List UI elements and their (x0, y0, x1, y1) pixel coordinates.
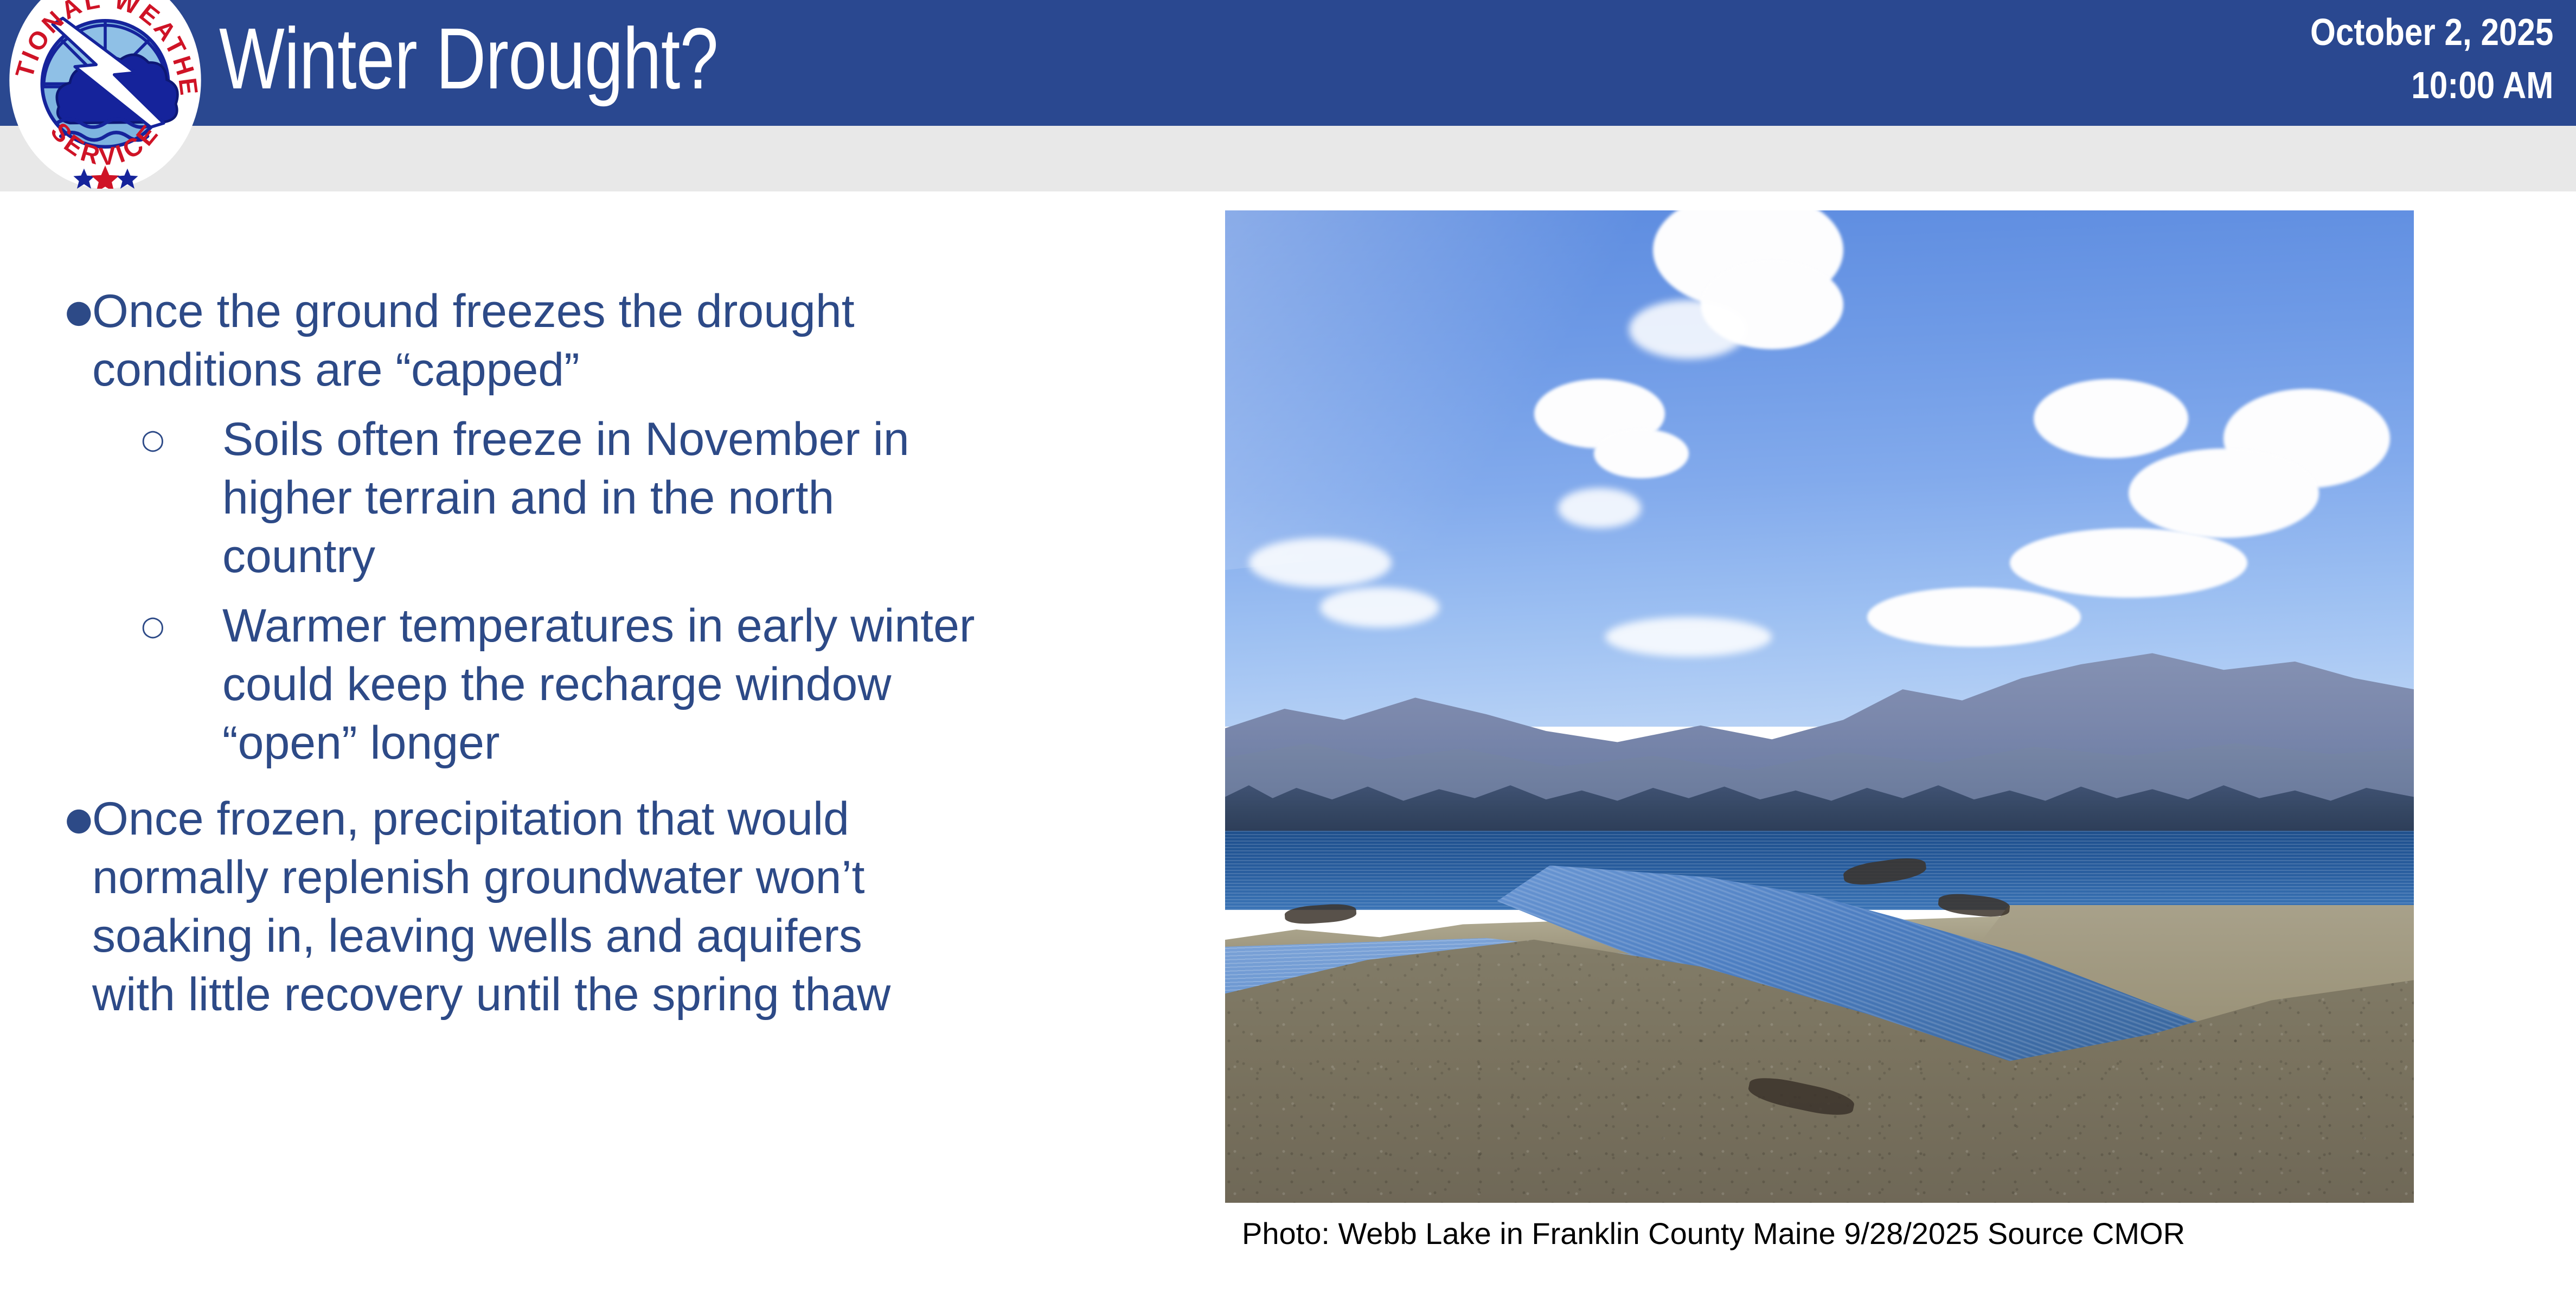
photo-cloud (2129, 448, 2319, 538)
photo-cloud (1605, 617, 1772, 657)
photo-cloud (1558, 488, 1641, 528)
photo-cloud (1867, 587, 2081, 647)
list-item: ○ Soils often freeze in November in high… (0, 410, 1188, 586)
list-item: ○ Warmer temperatures in early winter co… (0, 597, 1188, 772)
photo-cloud (1320, 587, 1439, 627)
bullet-marker-hollow-icon: ○ (127, 410, 222, 586)
list-item: ● Once frozen, precipitation that would … (0, 790, 1188, 1024)
header-time: 10:00 AM (2310, 59, 2553, 112)
list-item: ● Once the ground freezes the drought co… (0, 282, 1188, 399)
photo-caption: Photo: Webb Lake in Franklin County Main… (1242, 1215, 2185, 1253)
photo-cloud (2034, 379, 2188, 458)
bullet-text: Soils often freeze in November in higher… (222, 410, 992, 586)
bullet-text: Once frozen, precipitation that would no… (92, 790, 949, 1024)
page-title: Winter Drought? (219, 4, 718, 113)
photo-cloud (1594, 429, 1689, 479)
spacer (0, 589, 1188, 597)
header-datetime: October 2, 2025 10:00 AM (2271, 5, 2553, 112)
nws-logo-icon: NATIONAL WEATHER SERVICE (4, 0, 206, 189)
header-accent-strip (0, 126, 2576, 191)
bullet-text: Once the ground freezes the drought cond… (92, 282, 949, 399)
lake-photo (1225, 210, 2414, 1203)
photo-inner (1225, 210, 2414, 1203)
header-date: October 2, 2025 (2310, 5, 2553, 59)
bullet-text: Warmer temperatures in early winter coul… (222, 597, 992, 772)
bullet-marker-hollow-icon: ○ (127, 597, 222, 772)
bullet-marker-filled-icon: ● (0, 790, 92, 1024)
spacer (0, 402, 1188, 410)
bullet-list: ● Once the ground freezes the drought co… (0, 282, 1188, 1027)
photo-cloud (1249, 538, 1392, 588)
spacer (0, 775, 1188, 790)
photo-cloud (1629, 300, 1748, 360)
photo-cloud (2010, 528, 2247, 598)
bullet-marker-filled-icon: ● (0, 282, 92, 399)
